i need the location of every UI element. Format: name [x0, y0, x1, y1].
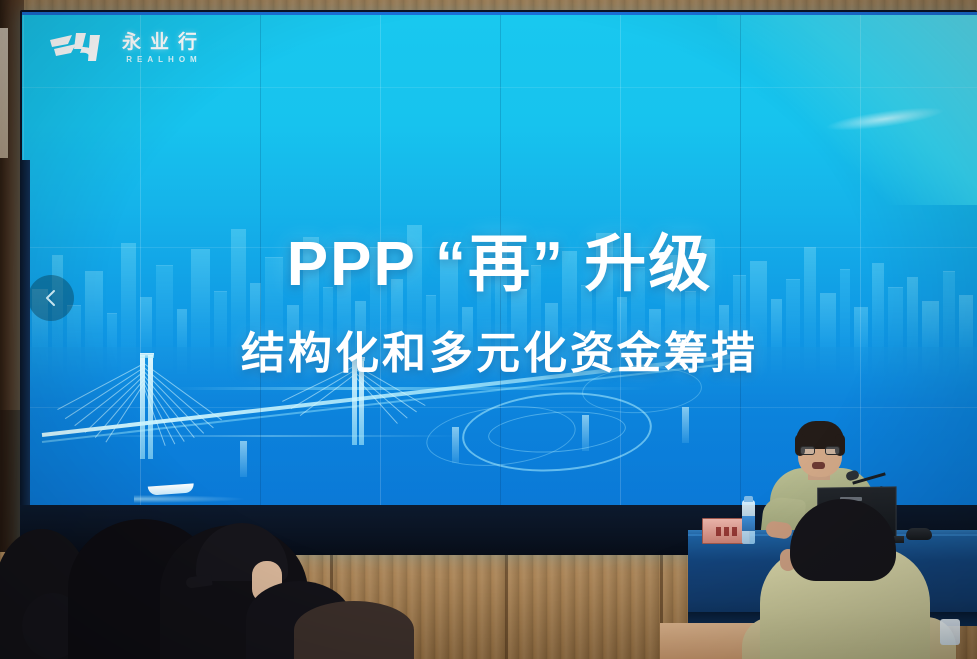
- chevron-left-icon: [43, 288, 59, 308]
- drinking-cup: [940, 619, 960, 645]
- conference-photo-scene: 永业行 REALHOM PPP “再” 升级 结构化和多元化资金筹措: [0, 0, 977, 659]
- cloud-streak: [824, 103, 945, 136]
- computer-mouse: [906, 528, 932, 540]
- brand-name-latin: REALHOM: [126, 56, 201, 64]
- slide-title-sub: 结构化和多元化资金筹措: [22, 317, 977, 381]
- water-bottle-cap: [744, 496, 753, 502]
- boat-wake: [134, 495, 244, 503]
- presenter-glasses: [800, 446, 840, 455]
- yh-monogram-icon: [46, 31, 108, 65]
- presenter-mouth: [812, 462, 825, 469]
- audience-head: [294, 601, 414, 659]
- wall-light-sliver: [0, 28, 8, 158]
- slide-title-main: PPP “再” 升级: [22, 213, 977, 303]
- screen-left-edge: [20, 160, 30, 505]
- brand-logo: 永业行 REALHOM: [46, 31, 206, 65]
- brand-name-cn: 永业行: [122, 33, 206, 52]
- prev-slide-button[interactable]: [28, 275, 74, 321]
- water-bottle-label: [742, 516, 755, 531]
- wainscot-seam: [505, 552, 508, 659]
